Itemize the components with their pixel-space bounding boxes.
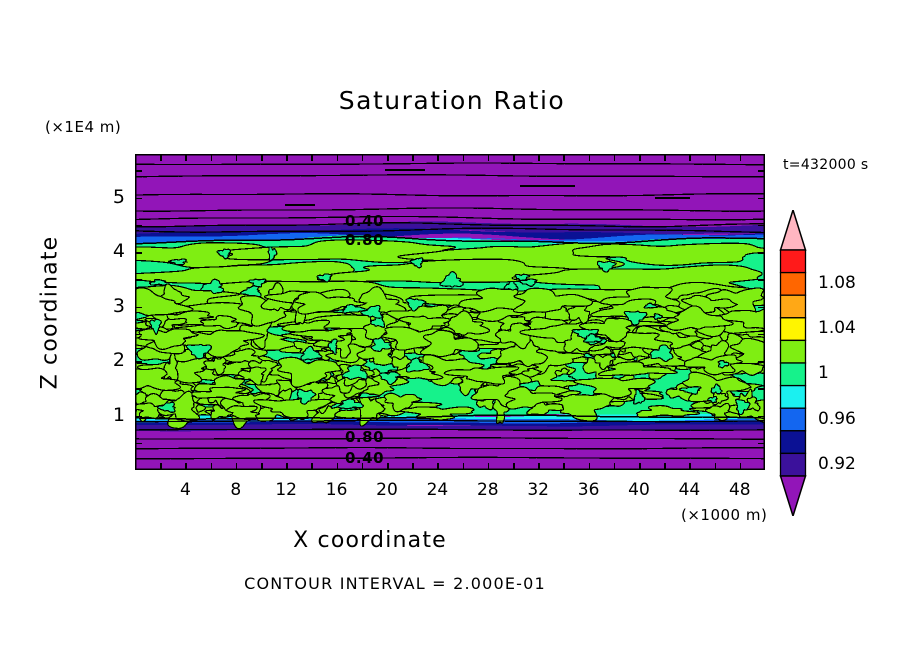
inline-contour-label: 0.80 <box>345 428 384 446</box>
inline-contour-label: 0.80 <box>345 231 384 249</box>
inline-contour-label-layer: 0.400.800.800.40 <box>0 0 904 654</box>
inline-contour-label: 0.40 <box>345 449 384 467</box>
inline-contour-label: 0.40 <box>345 212 384 230</box>
